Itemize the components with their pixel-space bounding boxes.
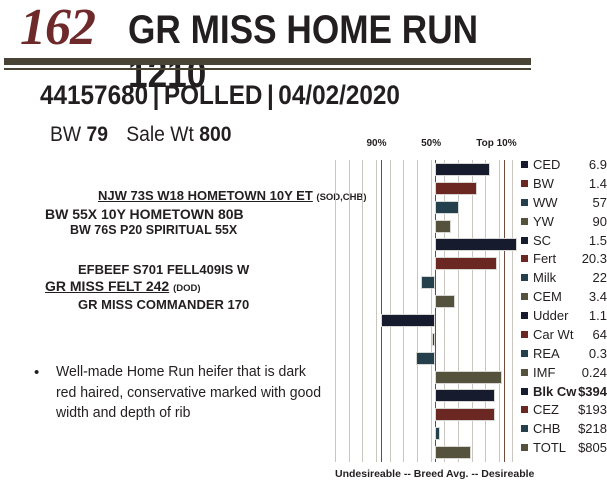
bullet-icon: •: [34, 363, 39, 383]
chart-bar-row: [335, 236, 517, 255]
bw-value: 79: [86, 123, 107, 146]
chart-bar-yw: [435, 220, 451, 233]
legend-label: TOTL: [533, 439, 566, 457]
legend-swatch-icon: [521, 350, 528, 357]
chart-footer-label: Undesireable -- Breed Avg. -- Desireable: [335, 468, 607, 480]
legend-swatch-icon: [521, 274, 528, 281]
registration-line: 44157680|POLLED|04/02/2020: [40, 80, 400, 111]
chart-bar-row: [335, 292, 517, 311]
legend-row-cez: CEZ$193: [521, 401, 607, 420]
bw-label: BW: [50, 123, 81, 146]
title-rule-thin: [4, 68, 531, 70]
legend-value: $218: [578, 420, 607, 438]
legend-swatch-icon: [521, 388, 528, 395]
sale-wt-label: Sale Wt: [126, 123, 194, 146]
pedigree-sire-grandsire: NJW 73S W18 HOMETOWN 10Y ET (SOD,CHB): [0, 188, 335, 206]
chart-bar-row: [335, 330, 517, 349]
chart-bar-row: [335, 217, 517, 236]
chart-bar-row: [335, 443, 517, 462]
chart-plot-area: [335, 160, 517, 462]
pedigree-sire-name: BW 55X 10Y HOMETOWN 80B: [0, 206, 335, 222]
legend-row-yw: YW90: [521, 213, 607, 232]
legend-row-rea: REA0.3: [521, 345, 607, 364]
legend-label: CEM: [533, 288, 562, 306]
legend-row-blk-cw: Blk Cw$394: [521, 383, 607, 402]
legend-row-fert: Fert20.3: [521, 250, 607, 269]
legend-row-cem: CEM3.4: [521, 288, 607, 307]
chart-bar-car-wt: [432, 333, 435, 346]
legend-swatch-icon: [521, 255, 528, 262]
notes-block: • Well-made Home Run heifer that is dark…: [34, 362, 334, 424]
chart-bar-milk: [421, 276, 436, 289]
legend-swatch-icon: [521, 425, 528, 432]
legend-label: YW: [533, 213, 554, 231]
legend-label: Blk Cw: [533, 383, 576, 401]
pedigree-sire-grandsire-name: NJW 73S W18 HOMETOWN 10Y ET: [98, 188, 313, 203]
chart-bar-bw: [435, 182, 477, 195]
legend-swatch-icon: [521, 293, 528, 300]
legend-row-totl: TOTL$805: [521, 439, 607, 458]
legend-label: WW: [533, 194, 558, 212]
legend-row-chb: CHB$218: [521, 420, 607, 439]
chart-bar-row: [335, 273, 517, 292]
legend-swatch-icon: [521, 180, 528, 187]
chart-bar-fert: [435, 257, 497, 270]
registration-number: 44157680: [40, 80, 148, 110]
legend-label: Udder: [533, 307, 568, 325]
legend-value: 22: [593, 269, 607, 287]
legend-value: 20.3: [582, 250, 607, 268]
legend-value: $394: [578, 383, 607, 401]
legend-swatch-icon: [521, 331, 528, 338]
pedigree-dam-block: EFBEEF S701 FELL409IS W GR MISS FELT 242…: [0, 262, 335, 313]
legend-row-milk: Milk22: [521, 269, 607, 288]
legend-row-ced: CED6.9: [521, 156, 607, 175]
chart-axis-label-0: 90%: [367, 138, 387, 149]
separator-1: |: [148, 80, 164, 110]
legend-value: 90: [593, 213, 607, 231]
legend-label: SC: [533, 232, 551, 250]
birth-date: 04/02/2020: [278, 80, 400, 110]
legend-row-bw: BW1.4: [521, 175, 607, 194]
legend-swatch-icon: [521, 199, 528, 206]
chart-bar-sc: [435, 238, 517, 251]
chart-bar-chb: [435, 427, 440, 440]
legend-label: Fert: [533, 250, 556, 268]
chart-bar-row: [335, 349, 517, 368]
horn-status: POLLED: [164, 80, 263, 110]
legend-swatch-icon: [521, 312, 528, 319]
pedigree-sire-granddam: BW 76S P20 SPIRITUAL 55X: [0, 222, 335, 238]
chart-bar-ced: [435, 163, 490, 176]
legend-swatch-icon: [521, 369, 528, 376]
legend-swatch-icon: [521, 218, 528, 225]
pedigree-sire-block: NJW 73S W18 HOMETOWN 10Y ET (SOD,CHB) BW…: [0, 188, 335, 238]
legend-label: CHB: [533, 420, 560, 438]
legend-label: REA: [533, 345, 560, 363]
chart-bar-row: [335, 368, 517, 387]
notes-text: Well-made Home Run heifer that is dark r…: [56, 362, 326, 424]
legend-value: 1.4: [589, 175, 607, 193]
legend-row-sc: SC1.5: [521, 232, 607, 251]
legend-row-udder: Udder1.1: [521, 307, 607, 326]
legend-value: 1.5: [589, 232, 607, 250]
chart-bar-row: [335, 311, 517, 330]
chart-axis-label-2: Top 10%: [476, 138, 516, 149]
legend-value: $805: [578, 439, 607, 457]
separator-2: |: [262, 80, 278, 110]
title-rule-thick: [4, 58, 531, 65]
chart-bar-row: [335, 179, 517, 198]
legend-label: Milk: [533, 269, 556, 287]
chart-bar-udder: [381, 314, 435, 327]
chart-bar-row: [335, 405, 517, 424]
weights-line: BW 79 Sale Wt 800: [50, 122, 232, 147]
legend-swatch-icon: [521, 444, 528, 451]
title-bar: 162 GR MISS HOME RUN 1210: [0, 2, 607, 58]
chart-bar-totl: [435, 446, 471, 459]
chart-axis-label-1: 50%: [421, 138, 441, 149]
epd-chart: 90%50%Top 10% CED6.9BW1.4WW57YW90SC1.5Fe…: [335, 138, 607, 490]
legend-row-imf: IMF0.24: [521, 364, 607, 383]
legend-value: 0.3: [589, 345, 607, 363]
chart-bar-cem: [435, 295, 455, 308]
pedigree-dam-name-qual: (DOD): [173, 283, 200, 294]
chart-bar-rea: [416, 352, 435, 365]
legend-swatch-icon: [521, 161, 528, 168]
chart-bar-row: [335, 424, 517, 443]
legend-value: 6.9: [589, 156, 607, 174]
legend-value: $193: [578, 401, 607, 419]
pedigree-dam-granddam: GR MISS COMMANDER 170: [0, 297, 335, 313]
lot-number: 162: [20, 0, 95, 56]
legend-swatch-icon: [521, 237, 528, 244]
legend-label: Car Wt: [533, 326, 573, 344]
legend-label: CEZ: [533, 401, 559, 419]
pedigree-dam-grandsire: EFBEEF S701 FELL409IS W: [0, 262, 335, 278]
pedigree-dam-name-text: GR MISS FELT 242: [45, 278, 169, 294]
legend-label: BW: [533, 175, 554, 193]
chart-bar-imf: [435, 371, 502, 384]
pedigree-dam-name: GR MISS FELT 242 (DOD): [0, 278, 335, 297]
chart-bar-row: [335, 387, 517, 406]
chart-bar-blk-cw: [435, 389, 495, 402]
legend-label: IMF: [533, 364, 555, 382]
chart-bar-ww: [435, 201, 459, 214]
legend-label: CED: [533, 156, 560, 174]
chart-bar-cez: [435, 408, 495, 421]
legend-value: 57: [593, 194, 607, 212]
chart-bar-row: [335, 198, 517, 217]
legend-value: 1.1: [589, 307, 607, 325]
legend-value: 3.4: [589, 288, 607, 306]
legend-row-ww: WW57: [521, 194, 607, 213]
legend-swatch-icon: [521, 406, 528, 413]
legend-row-car-wt: Car Wt64: [521, 326, 607, 345]
legend-value: 64: [593, 326, 607, 344]
legend-value: 0.24: [582, 364, 607, 382]
chart-axis-labels: 90%50%Top 10%: [335, 138, 607, 158]
chart-bar-row: [335, 254, 517, 273]
chart-bar-row: [335, 160, 517, 179]
sale-wt-value: 800: [199, 123, 231, 146]
